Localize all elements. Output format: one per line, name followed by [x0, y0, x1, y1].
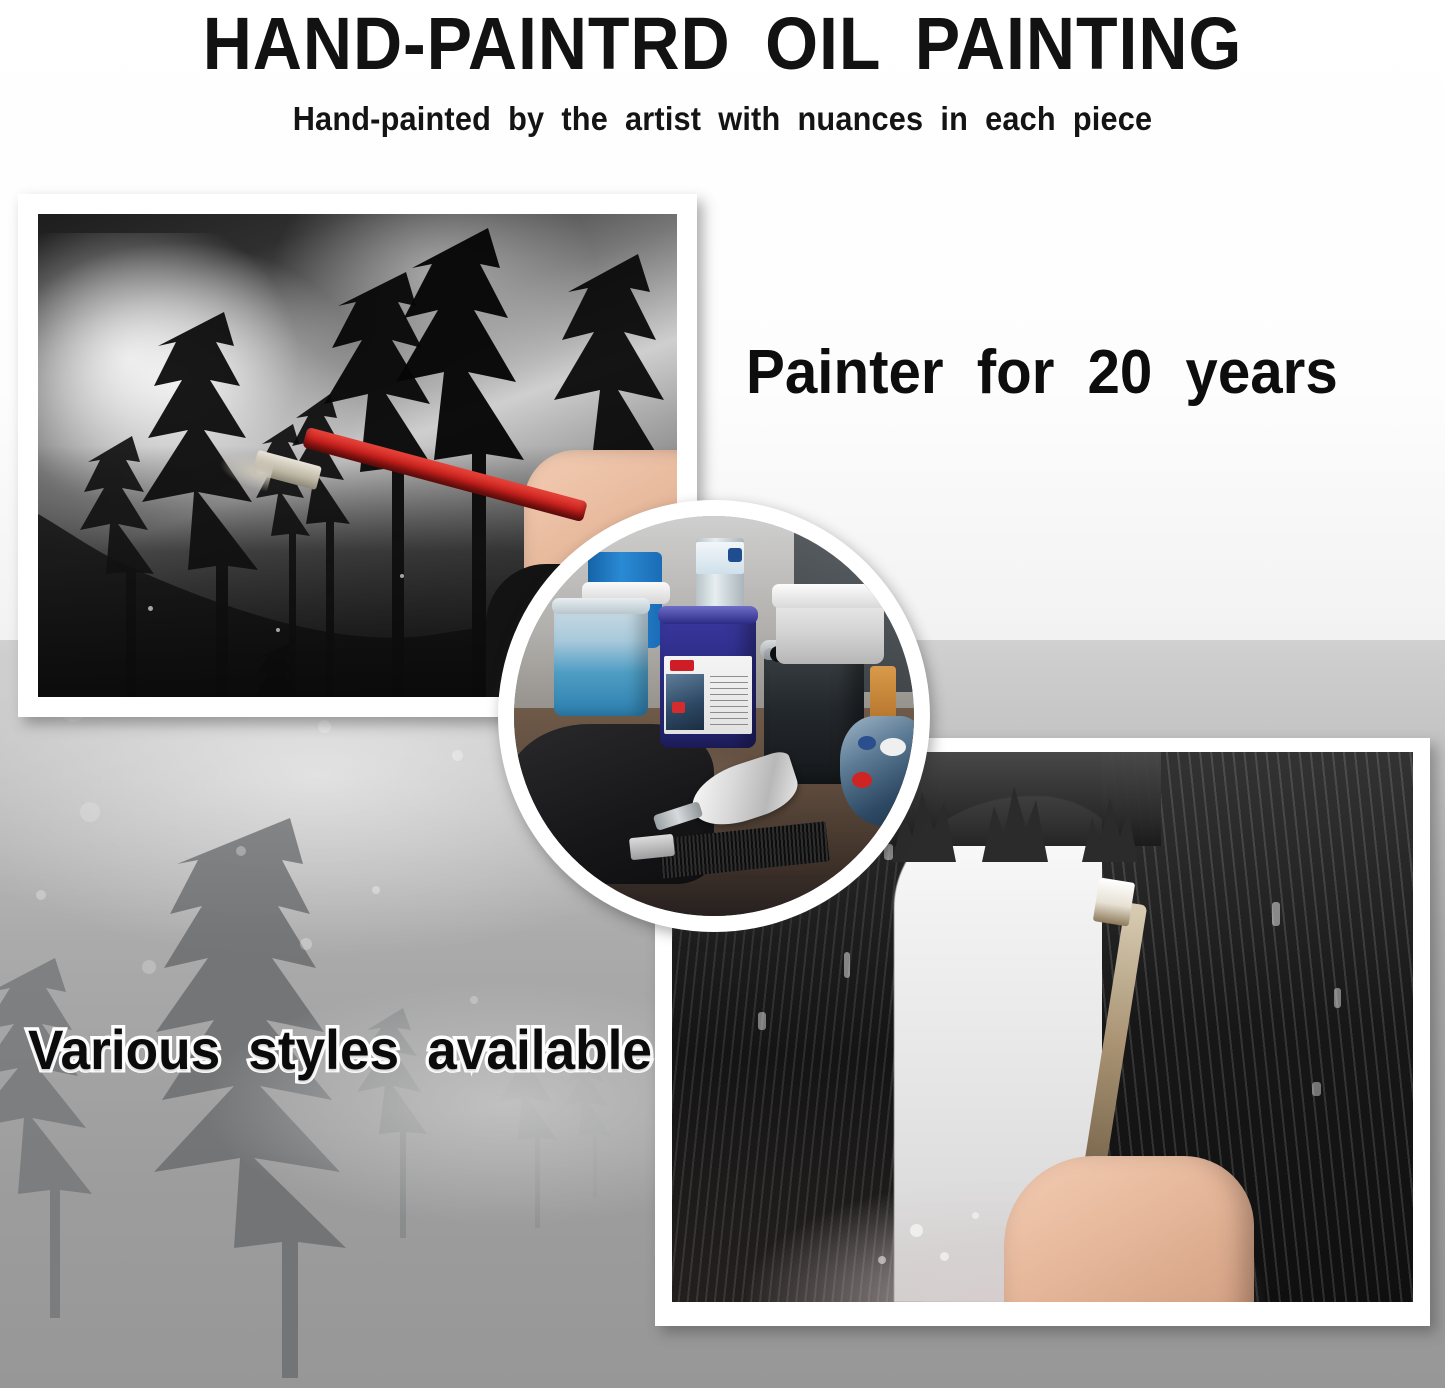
snow-speckle — [36, 890, 46, 900]
promo-banner: HAND-PAINTRD OIL PAINTING Hand-painted b… — [0, 0, 1445, 1388]
snow-speckle — [300, 938, 312, 950]
label-artwork-accent — [672, 702, 685, 713]
teal-jar-rim — [552, 598, 650, 614]
paint-speckle — [400, 574, 404, 578]
paint-supplies-image — [514, 516, 914, 916]
impasto-fleck — [844, 952, 850, 978]
snow-speckle — [318, 720, 331, 733]
snow-speckle — [470, 996, 478, 1004]
snow-dot — [972, 1212, 979, 1219]
snow-speckle — [80, 802, 100, 822]
page-title: HAND-PAINTRD OIL PAINTING — [58, 2, 1387, 86]
paint-speckle — [148, 606, 153, 611]
artist-hand — [1004, 1156, 1254, 1302]
paint-supplies-circle-inset — [498, 500, 930, 932]
caption-styles: Various styles available — [28, 1018, 652, 1082]
impasto-fleck — [758, 1012, 766, 1030]
page-subtitle: Hand-painted by the artist with nuances … — [51, 100, 1395, 138]
distant-pines — [852, 752, 1413, 872]
blue-tub-rim — [658, 606, 758, 624]
brush-tip-white — [1093, 877, 1135, 926]
caption-painter: Painter for 20 years — [746, 338, 1338, 408]
snow-dot — [940, 1252, 949, 1261]
snow-speckle — [142, 960, 156, 974]
snow-speckle — [372, 886, 380, 894]
impasto-fleck — [1272, 902, 1280, 926]
palette-white-blob — [880, 738, 906, 756]
snow-dot — [878, 1256, 886, 1264]
palette-red-blob — [852, 772, 872, 788]
snow-speckle — [236, 846, 246, 856]
teal-paint-jar — [554, 602, 648, 716]
snow-speckle — [452, 750, 463, 761]
palette-blue-blob — [858, 736, 876, 750]
label-text-lines — [710, 676, 748, 728]
snow-dot — [910, 1224, 923, 1237]
bottle-label-mark — [728, 548, 742, 562]
brush-metal-ferrule — [629, 834, 675, 860]
white-lid — [772, 584, 888, 608]
paint-speckle — [276, 628, 280, 632]
impasto-fleck — [1334, 988, 1341, 1008]
label-brand-mark — [670, 660, 694, 671]
impasto-fleck — [1312, 1082, 1321, 1096]
